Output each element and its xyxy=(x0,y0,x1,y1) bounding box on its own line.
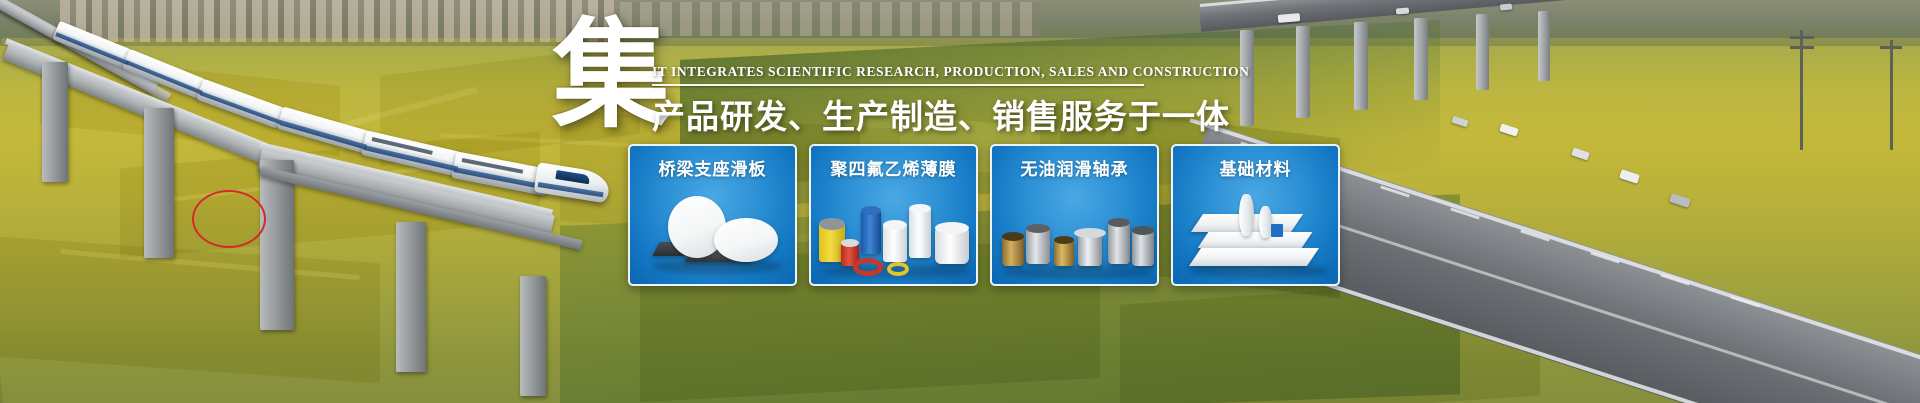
material-rod-tall xyxy=(1239,194,1254,236)
vehicle-car xyxy=(1571,148,1590,161)
product-shadow xyxy=(1004,266,1152,279)
product-card-slide-plate[interactable]: 桥梁支座滑板 xyxy=(628,144,797,286)
highway-pier xyxy=(1476,14,1489,90)
material-label-tag xyxy=(1271,224,1283,237)
film-ring-red xyxy=(853,258,883,276)
viaduct-pier xyxy=(42,62,68,182)
slide-plate-icon xyxy=(630,180,795,284)
vehicle-car xyxy=(1396,7,1409,14)
vehicle-car xyxy=(1499,123,1519,136)
film-ring-yellow xyxy=(887,262,909,276)
bearing-bush-flange xyxy=(1074,228,1106,238)
vehicle-car xyxy=(1669,193,1691,208)
material-sheet-front xyxy=(1189,248,1319,266)
bearing-bush-bore xyxy=(1108,218,1130,227)
bearing-bush xyxy=(1132,230,1154,266)
bearing-bush-bore xyxy=(1002,232,1024,241)
viaduct-pier xyxy=(520,276,546,396)
utility-pole-arm xyxy=(1790,36,1814,39)
film-roll-white-a-face xyxy=(883,220,907,230)
product-card-oil-free-bearing[interactable]: 无油润滑轴承 xyxy=(990,144,1159,286)
product-card-title: 无油润滑轴承 xyxy=(992,155,1157,180)
film-roll-white-c-face xyxy=(935,222,969,234)
ptfe-film-roll-icon xyxy=(811,180,976,284)
highway-pier xyxy=(1538,11,1550,81)
english-tagline: IT INTEGRATES SCIENTIFIC RESEARCH, PRODU… xyxy=(652,64,1144,80)
utility-pole-arm xyxy=(1790,46,1814,49)
bearing-bush-bore xyxy=(1026,224,1050,233)
highway-pier xyxy=(1296,26,1310,118)
material-sheet-mid xyxy=(1198,232,1313,248)
utility-pole xyxy=(1890,40,1893,150)
vehicle-car xyxy=(1451,116,1468,128)
product-card-title: 桥梁支座滑板 xyxy=(630,155,795,180)
headline-divider-rule xyxy=(652,84,1144,86)
red-ellipse-annotation xyxy=(192,190,266,248)
base-material-icon xyxy=(1173,180,1338,284)
film-roll-yellow-face xyxy=(819,218,845,230)
viaduct-pier xyxy=(260,160,294,330)
product-card-ptfe-film[interactable]: 聚四氟乙烯薄膜 xyxy=(809,144,978,286)
viaduct-pier xyxy=(396,222,426,372)
highway-pier xyxy=(1414,18,1428,100)
headline-block: 集 IT INTEGRATES SCIENTIFIC RESEARCH, PRO… xyxy=(552,22,1152,142)
film-roll-blue xyxy=(861,210,881,254)
product-card-title: 聚四氟乙烯薄膜 xyxy=(811,155,976,180)
slide-plate-disc-front xyxy=(714,218,778,262)
oil-free-bearing-icon xyxy=(992,180,1157,284)
film-roll-red-face xyxy=(841,239,859,247)
product-shadow xyxy=(1189,264,1329,278)
bearing-bush xyxy=(1026,228,1050,264)
product-card-list: 桥梁支座滑板 聚四氟乙烯薄膜 xyxy=(628,144,1340,286)
film-roll-white-b-face xyxy=(909,204,931,213)
film-roll-white-b xyxy=(909,208,931,258)
bearing-bush xyxy=(1108,222,1130,264)
hero-banner: 集 IT INTEGRATES SCIENTIFIC RESEARCH, PRO… xyxy=(0,0,1920,403)
chinese-tagline: 产品研发、生产制造、销售服务于一体 xyxy=(652,90,1172,138)
viaduct-pier xyxy=(144,108,174,258)
bearing-bush-flanged xyxy=(1078,234,1102,266)
film-roll-blue-face xyxy=(861,206,881,215)
vehicle-car xyxy=(1500,3,1512,10)
highway-pier xyxy=(1354,22,1368,110)
product-card-title: 基础材料 xyxy=(1173,155,1338,180)
product-card-base-material[interactable]: 基础材料 xyxy=(1171,144,1340,286)
bearing-bush-bore xyxy=(1132,226,1154,235)
vehicle-car xyxy=(1619,169,1640,183)
utility-pole-arm xyxy=(1880,46,1902,49)
bearing-bush-bore xyxy=(1054,236,1074,244)
